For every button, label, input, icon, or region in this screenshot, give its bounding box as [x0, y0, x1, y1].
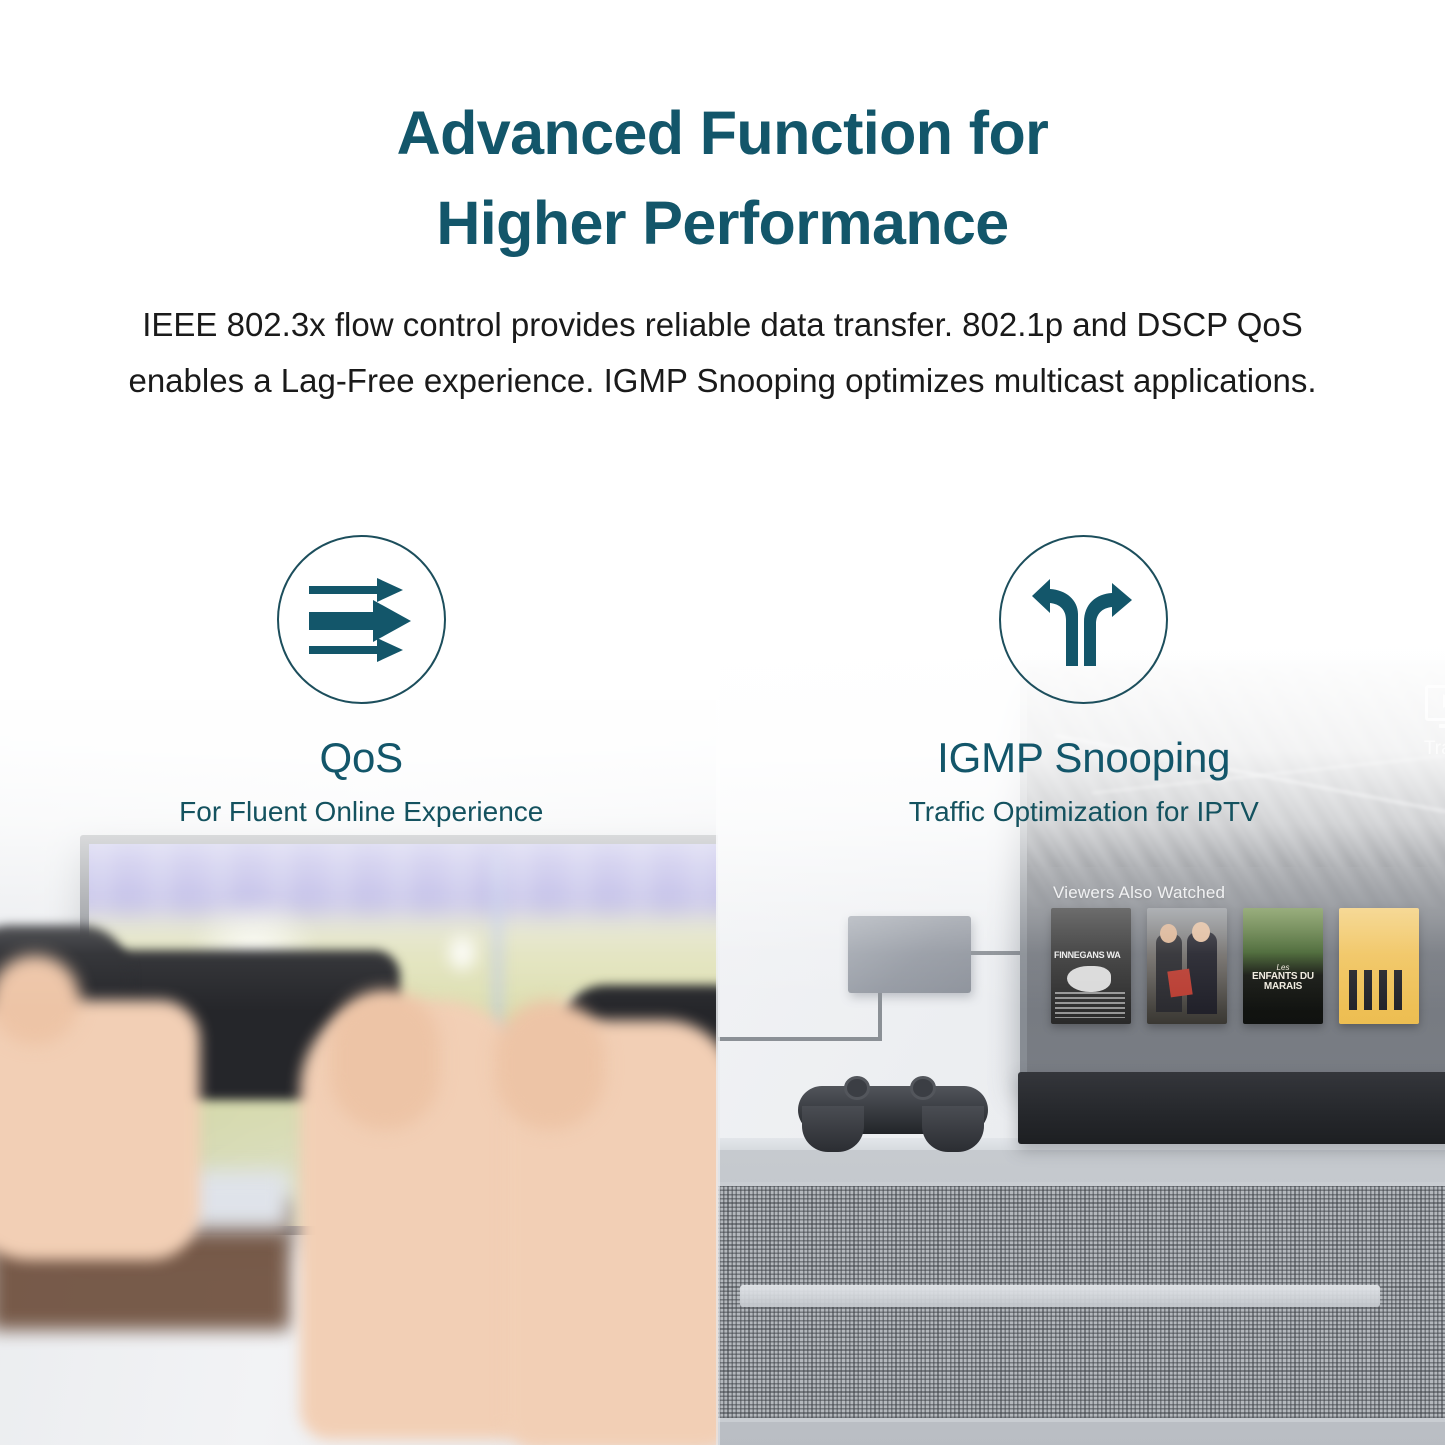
marketing-banner: Viewers Also Watched FINNEGANS WA: [0, 0, 1445, 1445]
headline-line-1: Advanced Function for: [0, 88, 1445, 178]
feature-subtitle: For Fluent Online Experience: [179, 796, 543, 828]
feature-title: QoS: [320, 734, 403, 782]
feature-row: QoS For Fluent Online Experience IGM: [0, 535, 1445, 828]
feature-subtitle: Traffic Optimization for IPTV: [909, 796, 1259, 828]
feature-igmp-snooping: IGMP Snooping Traffic Optimization for I…: [723, 535, 1445, 828]
feature-title: IGMP Snooping: [937, 734, 1230, 782]
feature-icon-circle: [277, 535, 446, 704]
headline-line-2: Higher Performance: [0, 178, 1445, 268]
page-title: Advanced Function for Higher Performance: [0, 88, 1445, 269]
feature-qos: QoS For Fluent Online Experience: [0, 535, 723, 828]
banner-content: Advanced Function for Higher Performance…: [0, 0, 1445, 1445]
description-text: IEEE 802.3x flow control provides reliab…: [95, 297, 1350, 409]
three-arrows-icon: [309, 574, 413, 666]
feature-icon-circle: [999, 535, 1168, 704]
branching-arrows-icon: [1032, 570, 1136, 670]
